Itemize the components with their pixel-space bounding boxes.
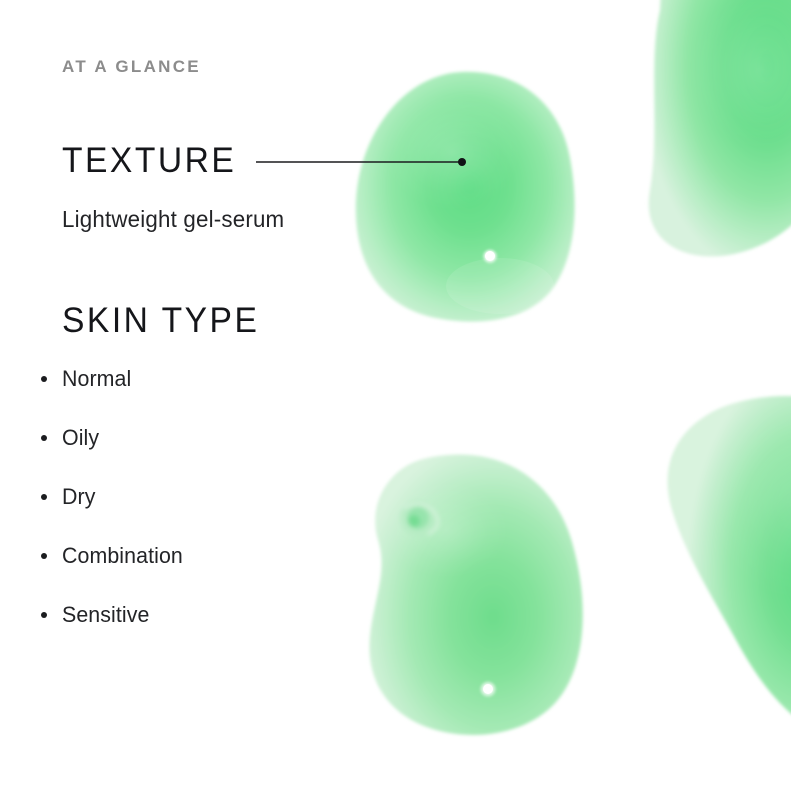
list-item: Normal — [41, 366, 341, 425]
bullet-icon — [41, 435, 47, 441]
bullet-icon — [41, 376, 47, 382]
skin-type-label: Dry — [62, 484, 95, 510]
skin-type-label: Combination — [62, 543, 183, 569]
bullet-icon — [41, 553, 47, 559]
section-heading-skin-type: SKIN TYPE — [62, 303, 259, 338]
list-item: Dry — [41, 484, 341, 543]
at-a-glance-card: AT A GLANCE TEXTURE Lightweight gel-seru… — [0, 0, 791, 791]
bullet-icon — [41, 612, 47, 618]
list-item: Sensitive — [41, 602, 341, 661]
text-content: AT A GLANCE TEXTURE Lightweight gel-seru… — [0, 0, 791, 791]
skin-type-label: Normal — [62, 366, 131, 392]
section-heading-texture: TEXTURE — [62, 143, 236, 178]
eyebrow-label: AT A GLANCE — [62, 58, 201, 75]
list-item: Oily — [41, 425, 341, 484]
texture-value: Lightweight gel-serum — [62, 208, 284, 231]
skin-type-label: Sensitive — [62, 602, 149, 628]
skin-type-list: Normal Oily Dry Combination Sensitive — [41, 366, 341, 661]
list-item: Combination — [41, 543, 341, 602]
bullet-icon — [41, 494, 47, 500]
skin-type-label: Oily — [62, 425, 99, 451]
